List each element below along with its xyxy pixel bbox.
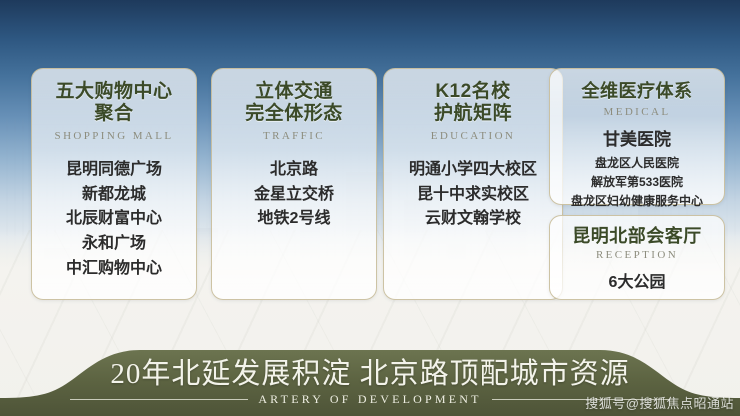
list-item: 盘龙区人民医院	[550, 154, 724, 173]
card-subtitle: TRAFFIC	[212, 130, 376, 142]
card-lead-item: 甘美医院	[550, 129, 724, 151]
card-reception[interactable]: 昆明北部会客厅 RECEPTION 6大公园	[549, 215, 725, 300]
list-item: 永和广场	[32, 232, 196, 257]
banner-rule-left	[70, 399, 248, 400]
card-item-list: 北京路 金星立交桥 地铁2号线	[212, 158, 376, 232]
list-item: 解放军第533医院	[550, 173, 724, 192]
bottom-banner: 20年北延发展积淀 北京路顶配城市资源 ARTERY OF DEVELOPMEN…	[0, 338, 740, 416]
card-title: K12名校 护航矩阵	[384, 81, 562, 126]
list-item: 云财文翰学校	[384, 207, 562, 232]
list-item: 北京路	[212, 158, 376, 183]
card-title-line-1: 五大购物中心	[32, 81, 196, 103]
card-title-line-2: 护航矩阵	[384, 103, 562, 125]
list-item: 北辰财富中心	[32, 207, 196, 232]
card-title: 全维医疗体系	[550, 81, 724, 102]
banner-headline: 20年北延发展积淀 北京路顶配城市资源	[0, 350, 740, 392]
card-education[interactable]: K12名校 护航矩阵 EDUCATION 明通小学四大校区 昆十中求实校区 云财…	[383, 68, 563, 300]
list-item: 金星立交桥	[212, 183, 376, 208]
card-shopping-mall[interactable]: 五大购物中心 聚合 SHOPPING MALL 昆明同德广场 新都龙城 北辰财富…	[31, 68, 197, 300]
card-title-line-2: 聚合	[32, 103, 196, 125]
card-item-list: 明通小学四大校区 昆十中求实校区 云财文翰学校	[384, 158, 562, 232]
card-item-list: 6大公园	[550, 268, 724, 292]
card-subtitle: MEDICAL	[550, 106, 724, 118]
list-item: 明通小学四大校区	[384, 158, 562, 183]
list-item: 新都龙城	[32, 183, 196, 208]
card-title: 昆明北部会客厅	[550, 226, 724, 247]
slide-canvas: 五大购物中心 聚合 SHOPPING MALL 昆明同德广场 新都龙城 北辰财富…	[0, 0, 740, 416]
watermark-text: 搜狐号@搜狐焦点昭通站	[585, 393, 734, 412]
card-title-line-1: 立体交通	[212, 81, 376, 103]
card-medical[interactable]: 全维医疗体系 MEDICAL 甘美医院 盘龙区人民医院 解放军第533医院 盘龙…	[549, 68, 725, 205]
card-item-list: 昆明同德广场 新都龙城 北辰财富中心 永和广场 中汇购物中心	[32, 158, 196, 282]
card-subtitle: SHOPPING MALL	[32, 130, 196, 142]
card-title: 五大购物中心 聚合	[32, 81, 196, 126]
list-item: 中汇购物中心	[32, 257, 196, 282]
card-title: 立体交通 完全体形态	[212, 81, 376, 126]
list-item: 昆十中求实校区	[384, 183, 562, 208]
card-title-line-1: 昆明北部会客厅	[550, 226, 724, 247]
card-title-line-1: 全维医疗体系	[550, 81, 724, 102]
card-subtitle: RECEPTION	[550, 249, 724, 261]
banner-subtitle: ARTERY OF DEVELOPMENT	[258, 392, 481, 407]
card-title-line-2: 完全体形态	[212, 103, 376, 125]
list-item: 地铁2号线	[212, 207, 376, 232]
list-item: 盘龙区妇幼健康服务中心	[550, 192, 724, 211]
list-item: 昆明同德广场	[32, 158, 196, 183]
list-item: 6大公园	[550, 268, 724, 292]
card-traffic[interactable]: 立体交通 完全体形态 TRAFFIC 北京路 金星立交桥 地铁2号线	[211, 68, 377, 300]
card-subtitle: EDUCATION	[384, 130, 562, 142]
card-item-list: 盘龙区人民医院 解放军第533医院 盘龙区妇幼健康服务中心	[550, 154, 724, 210]
card-title-line-1: K12名校	[384, 81, 562, 103]
